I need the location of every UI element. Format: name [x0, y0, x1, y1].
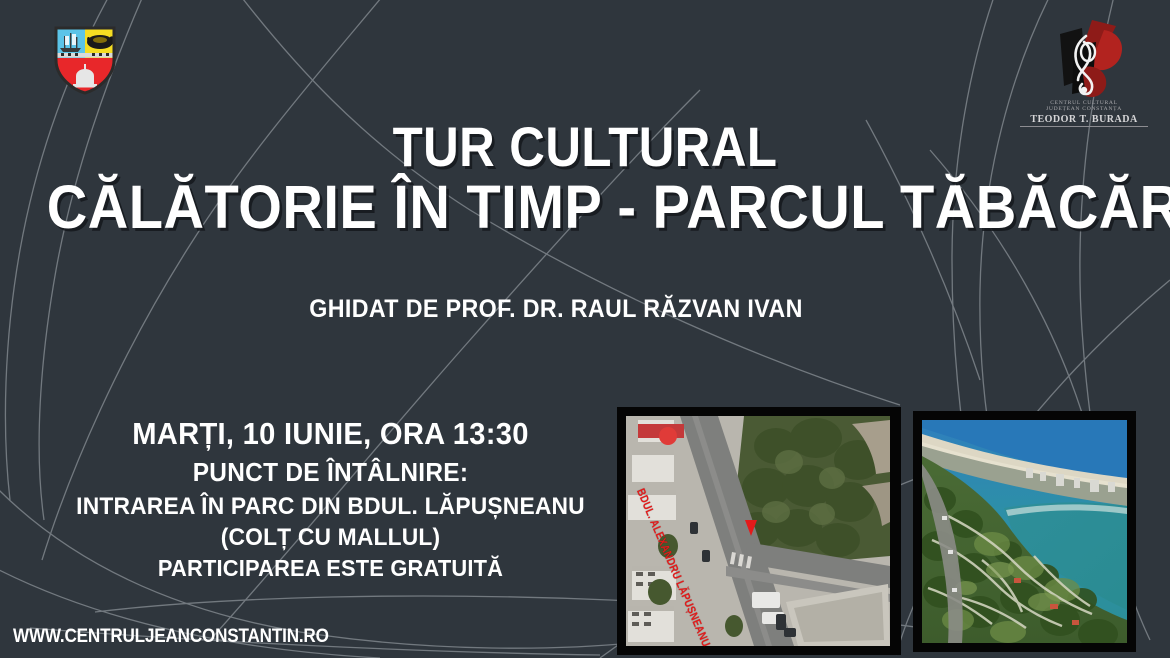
aerial-park-illustration	[922, 420, 1127, 643]
burada-logo: CENTRUL CULTURAL JUDEȚEAN CONSTANȚA TEOD…	[1020, 16, 1148, 134]
event-date: MARȚI, 10 IUNIE, ORA 13:30	[74, 415, 586, 453]
headline-line-1: TUR CULTURAL	[70, 118, 1100, 175]
photo-aerial-park	[913, 411, 1136, 652]
poster-canvas: CENTRUL CULTURAL JUDEȚEAN CONSTANȚA TEOD…	[0, 0, 1170, 658]
meeting-point-label: PUNCT DE ÎNTÂLNIRE:	[74, 453, 586, 492]
event-details: MARȚI, 10 IUNIE, ORA 13:30 PUNCT DE ÎNTÂ…	[58, 415, 603, 584]
meeting-address-2: (COLȚ CU MALLUL)	[72, 523, 590, 552]
treble-clef-icon	[1020, 16, 1148, 102]
website-url[interactable]: WWW.CENTRULJEANCONSTANTIN.RO	[13, 626, 329, 648]
treble-clef-mark	[1020, 16, 1148, 102]
burada-line-2: JUDEȚEAN CONSTANȚA	[1020, 106, 1148, 112]
constanta-coat-of-arms	[52, 24, 118, 96]
aerial-map-illustration	[626, 416, 890, 646]
free-entry-note: PARTICIPAREA ESTE GRATUITĂ	[72, 552, 590, 584]
meeting-point-marker-icon	[745, 520, 757, 536]
photo-aerial-map: BDUL. ALEXANDRU LĂPUȘNEANU	[617, 407, 901, 655]
poster-headline: TUR CULTURAL CĂLĂTORIE ÎN TIMP - PARCUL …	[0, 118, 1170, 239]
coat-of-arms-icon	[52, 24, 118, 96]
photo-aerial-map-image	[626, 416, 890, 646]
meeting-address-1: INTRAREA ÎN PARC DIN BDUL. LĂPUȘNEANU	[72, 492, 590, 523]
guide-subtitle: GHIDAT DE PROF. DR. RAUL RĂZVAN IVAN	[39, 295, 1073, 324]
headline-line-2: CĂLĂTORIE ÎN TIMP - PARCUL TĂBĂCĂRIEI	[47, 175, 1123, 239]
photo-aerial-park-image	[922, 420, 1127, 643]
